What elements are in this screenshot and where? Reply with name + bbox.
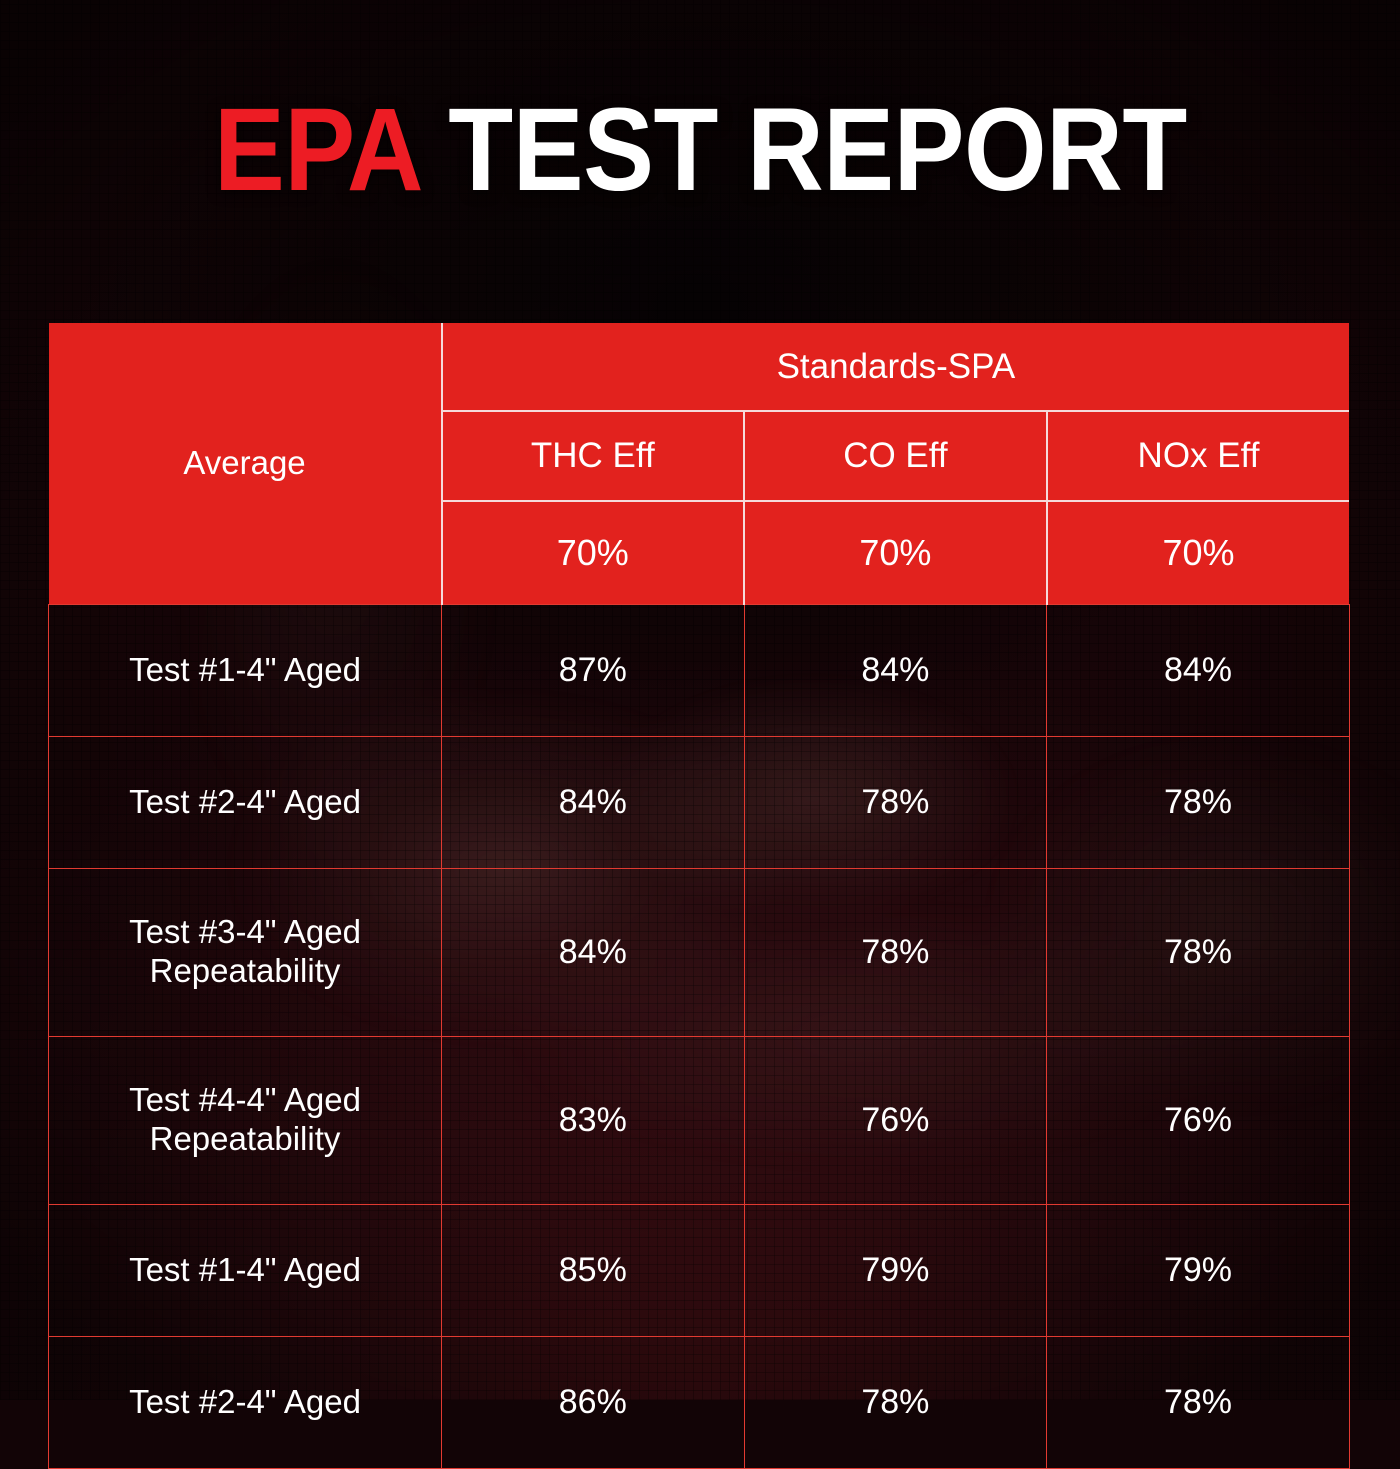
row-value-nox: 79%	[1047, 1204, 1350, 1336]
row-value-co: 78%	[744, 868, 1047, 1036]
row-label: Test #3-4" Aged Repeatability	[49, 868, 442, 1036]
row-value-co: 78%	[744, 736, 1047, 868]
row-label-line1: Test #2-4" Aged	[59, 783, 431, 822]
row-value-co: 76%	[744, 1036, 1047, 1204]
row-label-line1: Test #2-4" Aged	[59, 1383, 431, 1422]
row-label: Test #2-4" Aged	[49, 736, 442, 868]
title-rest: TEST REPORT	[419, 84, 1187, 216]
header-col-co: CO Eff	[744, 411, 1047, 501]
row-value-nox: 78%	[1047, 1336, 1350, 1468]
table-row: Test #3-4" Aged Repeatability 84% 78% 78…	[49, 868, 1350, 1036]
table-row: Test #1-4" Aged 85% 79% 79%	[49, 1204, 1350, 1336]
table-body: Test #1-4" Aged 87% 84% 84% Test #2-4" A…	[49, 604, 1350, 1468]
standard-value-co: 70%	[744, 501, 1047, 604]
row-value-nox: 78%	[1047, 736, 1350, 868]
standard-value-nox: 70%	[1047, 501, 1350, 604]
row-value-nox: 76%	[1047, 1036, 1350, 1204]
row-value-nox: 78%	[1047, 868, 1350, 1036]
row-value-thc: 84%	[442, 736, 745, 868]
row-value-thc: 83%	[442, 1036, 745, 1204]
row-label-line1: Test #3-4" Aged	[59, 913, 431, 952]
row-label-line2: Repeatability	[59, 1120, 431, 1159]
table-row: Test #1-4" Aged 87% 84% 84%	[49, 604, 1350, 736]
header-standards-spa: Standards-SPA	[442, 323, 1350, 411]
row-label: Test #2-4" Aged	[49, 1336, 442, 1468]
row-label-line2: Repeatability	[59, 952, 431, 991]
standard-value-thc: 70%	[442, 501, 745, 604]
row-value-thc: 86%	[442, 1336, 745, 1468]
row-label-line1: Test #1-4" Aged	[59, 1251, 431, 1290]
row-value-co: 84%	[744, 604, 1047, 736]
header-col-nox: NOx Eff	[1047, 411, 1350, 501]
table-row: Test #4-4" Aged Repeatability 83% 76% 76…	[49, 1036, 1350, 1204]
table-header: Average Standards-SPA THC Eff CO Eff NOx…	[49, 323, 1350, 604]
row-value-co: 78%	[744, 1336, 1047, 1468]
row-label: Test #1-4" Aged	[49, 604, 442, 736]
row-value-co: 79%	[744, 1204, 1047, 1336]
row-value-thc: 85%	[442, 1204, 745, 1336]
row-value-thc: 87%	[442, 604, 745, 736]
table-row: Test #2-4" Aged 84% 78% 78%	[49, 736, 1350, 868]
header-average-label: Average	[49, 323, 442, 604]
title-accent: EPA	[214, 84, 419, 216]
row-value-nox: 84%	[1047, 604, 1350, 736]
epa-results-table: Average Standards-SPA THC Eff CO Eff NOx…	[48, 323, 1349, 1312]
row-label: Test #4-4" Aged Repeatability	[49, 1036, 442, 1204]
header-row-group: Average Standards-SPA	[49, 323, 1350, 411]
row-label-line1: Test #4-4" Aged	[59, 1081, 431, 1120]
table-row: Test #2-4" Aged 86% 78% 78%	[49, 1336, 1350, 1468]
page-title: EPA TEST REPORT	[0, 0, 1400, 300]
table: Average Standards-SPA THC Eff CO Eff NOx…	[48, 323, 1350, 1469]
row-value-thc: 84%	[442, 868, 745, 1036]
row-label: Test #1-4" Aged	[49, 1204, 442, 1336]
header-col-thc: THC Eff	[442, 411, 745, 501]
row-label-line1: Test #1-4" Aged	[59, 651, 431, 690]
